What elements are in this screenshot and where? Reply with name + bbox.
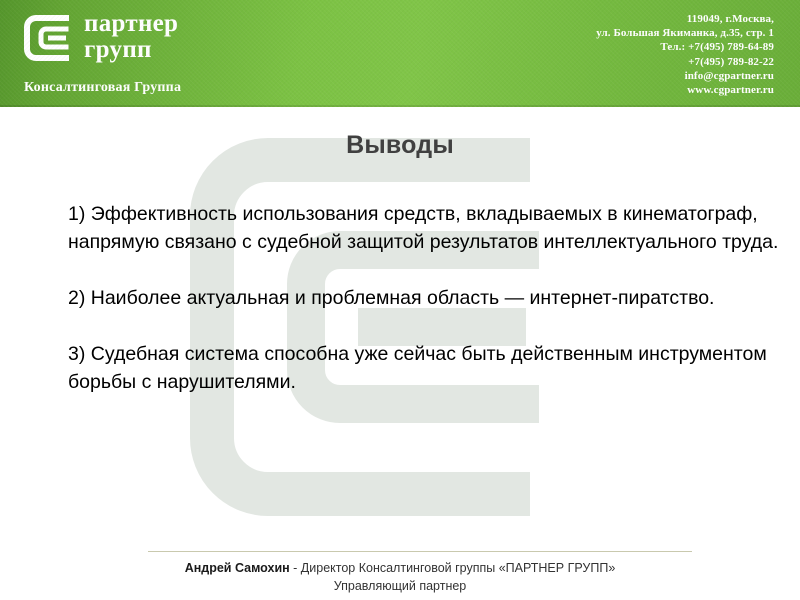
- contact-phone-2: +7(495) 789-82-22: [596, 55, 774, 69]
- header-bottom-edge: [0, 105, 800, 107]
- cg-monogram-icon: [22, 13, 72, 63]
- presenter-name: Андрей Самохин: [185, 561, 290, 575]
- contact-street: ул. Большая Якиманка, д.35, стр. 1: [596, 26, 774, 40]
- header-banner: партнер групп Консалтинговая Группа 1190…: [0, 0, 800, 107]
- brand-logo[interactable]: партнер групп: [22, 13, 178, 63]
- contact-website[interactable]: www.cgpartner.ru: [596, 83, 774, 97]
- contact-block: 119049, г.Москва, ул. Большая Якиманка, …: [596, 12, 774, 97]
- conclusion-paragraph-3: 3) Судебная система способна уже сейчас …: [68, 340, 784, 396]
- slide-body: 1) Эффективность использования средств, …: [68, 200, 784, 396]
- contact-phone-1: Тел.: +7(495) 789-64-89: [596, 40, 774, 54]
- page-title: Выводы: [0, 131, 800, 160]
- presenter-role: - Директор Консалтинговой группы «ПАРТНЕ…: [290, 561, 616, 575]
- footer-presenter-line: Андрей Самохин - Директор Консалтинговой…: [0, 559, 800, 577]
- footer-divider: [148, 551, 692, 552]
- footer: Андрей Самохин - Директор Консалтинговой…: [0, 559, 800, 595]
- wordmark-line-2: групп: [84, 37, 178, 63]
- brand-tagline: Консалтинговая Группа: [24, 80, 181, 96]
- contact-email[interactable]: info@cgpartner.ru: [596, 69, 774, 83]
- brand-wordmark: партнер групп: [84, 11, 178, 63]
- presenter-title: Управляющий партнер: [0, 577, 800, 595]
- presentation-slide: партнер групп Консалтинговая Группа 1190…: [0, 0, 800, 600]
- contact-postal: 119049, г.Москва,: [596, 12, 774, 26]
- wordmark-line-1: партнер: [84, 11, 178, 37]
- conclusion-paragraph-1: 1) Эффективность использования средств, …: [68, 200, 784, 256]
- conclusion-paragraph-2: 2) Наиболее актуальная и проблемная обла…: [68, 284, 784, 312]
